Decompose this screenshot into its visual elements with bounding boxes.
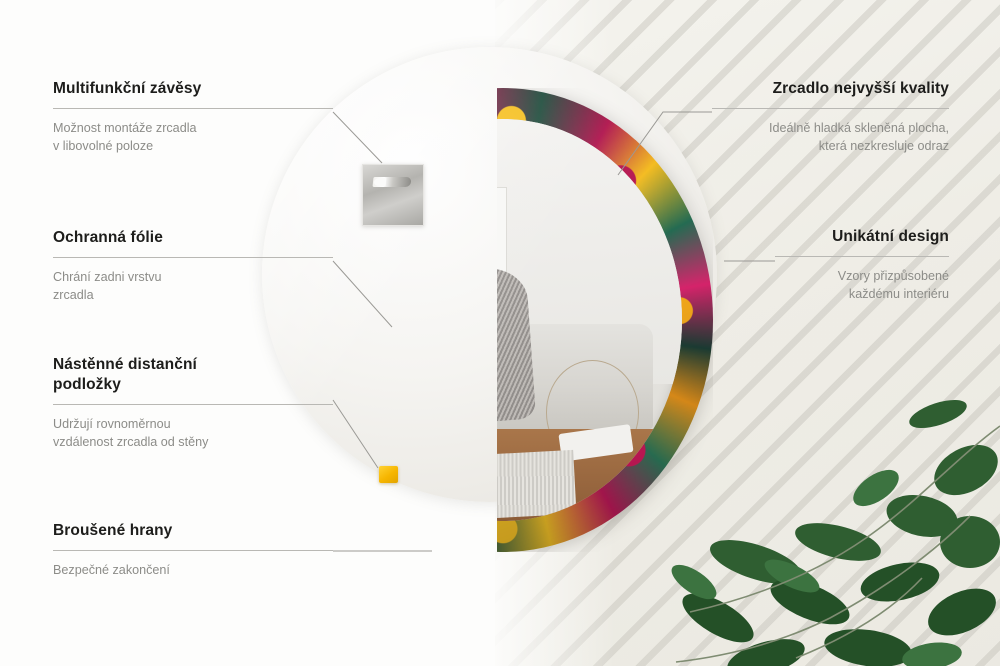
divider — [53, 404, 333, 405]
mirror-glass — [497, 119, 682, 521]
divider — [775, 256, 949, 257]
hanger-plate-icon — [362, 164, 424, 226]
glass-sheen — [497, 119, 682, 521]
divider — [712, 108, 949, 109]
feature-ochranna-folie: Ochranná fólie Chrání zadni vrstvuzrcadl… — [53, 228, 333, 305]
feature-title: Ochranná fólie — [53, 228, 333, 248]
feature-multifunkcni-zavesy: Multifunkční závěsy Možnost montáže zrca… — [53, 79, 333, 156]
foliage-decoration — [670, 366, 1000, 666]
feature-unikatni-design: Unikátní design Vzory přizpůsobenékaždém… — [775, 227, 949, 304]
feature-zrcadlo-nejvyssi-kvality: Zrcadlo nejvyšší kvality Ideálně hladká … — [712, 79, 949, 156]
keyhole-slot-icon — [372, 177, 411, 187]
feature-title: Unikátní design — [775, 227, 949, 247]
divider — [53, 550, 333, 551]
feature-description: Bezpečné zakončení — [53, 562, 333, 580]
feature-title: Multifunkční závěsy — [53, 79, 333, 99]
feature-description: Udržují rovnoměrnouvzdálenost zrcadla od… — [53, 416, 333, 452]
feature-brousene-hrany: Broušené hrany Bezpečné zakončení — [53, 521, 333, 580]
feature-description: Chrání zadni vrstvuzrcadla — [53, 269, 333, 305]
feature-title: Broušené hrany — [53, 521, 333, 541]
divider — [53, 257, 333, 258]
feature-title: Zrcadlo nejvyšší kvality — [712, 79, 949, 99]
divider — [53, 108, 333, 109]
product-infographic: Multifunkční závěsy Možnost montáže zrca… — [0, 0, 1000, 666]
feature-description: Vzory přizpůsobenékaždému interiéru — [775, 268, 949, 304]
feature-description: Možnost montáže zrcadlav libovolné poloz… — [53, 120, 333, 156]
spacer-pad-icon — [379, 466, 398, 483]
feature-description: Ideálně hladká skleněná plocha,která nez… — [712, 120, 949, 156]
feature-nastenne-distancni-podlozky: Nástěnné distančnípodložky Udržují rovno… — [53, 355, 333, 451]
feature-title: Nástěnné distančnípodložky — [53, 355, 333, 395]
